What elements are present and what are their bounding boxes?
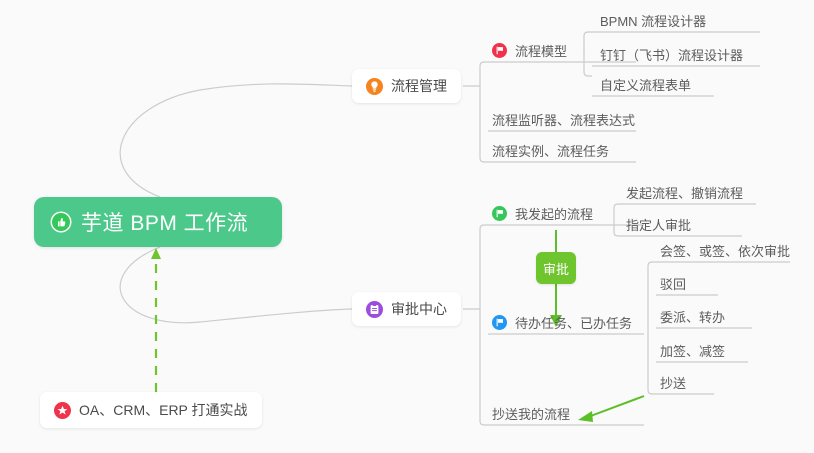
leaf-label-dingtalk-designer: 钉钉（飞书）流程设计器 (600, 45, 743, 64)
leaf-node-bpmn-designer[interactable]: BPMN 流程设计器 (600, 8, 706, 32)
leaf-node-todo-done[interactable]: 待办任务、已办任务 (492, 310, 632, 334)
branch-node-approval-center[interactable]: 审批中心 (352, 292, 461, 326)
leaf-node-cc[interactable]: 抄送 (660, 370, 686, 394)
leaf-node-cc-to-me[interactable]: 抄送我的流程 (492, 401, 570, 425)
leaf-node-assignee-approval[interactable]: 指定人审批 (626, 212, 691, 236)
mindmap-canvas: 芋道 BPM 工作流 流程管理 流程模型 流程监听器、流程表达式 流程实例、流 (0, 0, 814, 453)
branch-label-approval-center: 审批中心 (391, 299, 447, 319)
link-root-to-approval-center (120, 247, 352, 323)
spine-process-management (480, 62, 488, 162)
spine-todo-done (648, 262, 656, 394)
dashed-link-footer-to-root (151, 248, 161, 392)
leaf-node-process-listener[interactable]: 流程监听器、流程表达式 (492, 107, 635, 131)
footer-node-oa-crm-erp[interactable]: OA、CRM、ERP 打通实战 (40, 392, 262, 428)
leaf-node-add-remove-sign[interactable]: 加签、减签 (660, 338, 725, 362)
leaf-node-start-cancel[interactable]: 发起流程、撤销流程 (626, 180, 743, 204)
leaf-node-process-instance[interactable]: 流程实例、流程任务 (492, 138, 609, 162)
cc-arrowhead (578, 411, 593, 422)
leaf-label-countersign: 会签、或签、依次审批 (660, 241, 790, 260)
leaf-label-process-instance: 流程实例、流程任务 (492, 141, 609, 160)
leaf-label-custom-form: 自定义流程表单 (600, 75, 691, 94)
spine-my-initiated (614, 204, 622, 236)
spine-process-model (584, 32, 592, 76)
leaf-label-todo-done: 待办任务、已办任务 (515, 313, 632, 332)
leaf-node-dingtalk-designer[interactable]: 钉钉（飞书）流程设计器 (600, 42, 743, 66)
branch-label-process-management: 流程管理 (391, 76, 447, 96)
thumbs-up-icon (50, 211, 72, 233)
dashed-arrowhead (151, 248, 161, 259)
leaf-label-reject: 驳回 (660, 274, 686, 293)
flag-icon (492, 206, 507, 221)
link-root-to-process-management (120, 84, 352, 197)
root-node[interactable]: 芋道 BPM 工作流 (34, 197, 282, 247)
leaf-node-my-initiated[interactable]: 我发起的流程 (492, 201, 593, 225)
leaf-label-assignee-approval: 指定人审批 (626, 215, 691, 234)
approval-badge[interactable]: 审批 (536, 252, 576, 284)
leaf-label-my-initiated: 我发起的流程 (515, 204, 593, 223)
leaf-label-bpmn-designer: BPMN 流程设计器 (600, 11, 706, 30)
spine-approval-center (480, 225, 488, 425)
root-label: 芋道 BPM 工作流 (81, 207, 248, 237)
flag-icon (492, 315, 507, 330)
flag-icon (492, 43, 507, 58)
leaf-label-start-cancel: 发起流程、撤销流程 (626, 183, 743, 202)
branch-node-process-management[interactable]: 流程管理 (352, 69, 461, 103)
leaf-node-delegate[interactable]: 委派、转办 (660, 304, 725, 328)
approval-badge-label: 审批 (543, 259, 569, 278)
lightbulb-icon (366, 78, 383, 95)
clipboard-icon (366, 301, 383, 318)
cc-arrow-line (588, 396, 644, 417)
leaf-node-process-model[interactable]: 流程模型 (492, 38, 567, 62)
star-icon (54, 402, 71, 419)
leaf-label-process-model: 流程模型 (515, 41, 567, 60)
cc-flow-arrow (578, 396, 644, 422)
leaf-label-cc-to-me: 抄送我的流程 (492, 404, 570, 423)
leaf-label-process-listener: 流程监听器、流程表达式 (492, 110, 635, 129)
leaf-node-reject[interactable]: 驳回 (660, 271, 686, 295)
leaf-label-cc: 抄送 (660, 373, 686, 392)
footer-node-label: OA、CRM、ERP 打通实战 (79, 400, 248, 420)
leaf-label-delegate: 委派、转办 (660, 307, 725, 326)
leaf-node-countersign[interactable]: 会签、或签、依次审批 (660, 238, 790, 262)
leaf-label-add-remove-sign: 加签、减签 (660, 341, 725, 360)
leaf-node-custom-form[interactable]: 自定义流程表单 (600, 72, 691, 96)
